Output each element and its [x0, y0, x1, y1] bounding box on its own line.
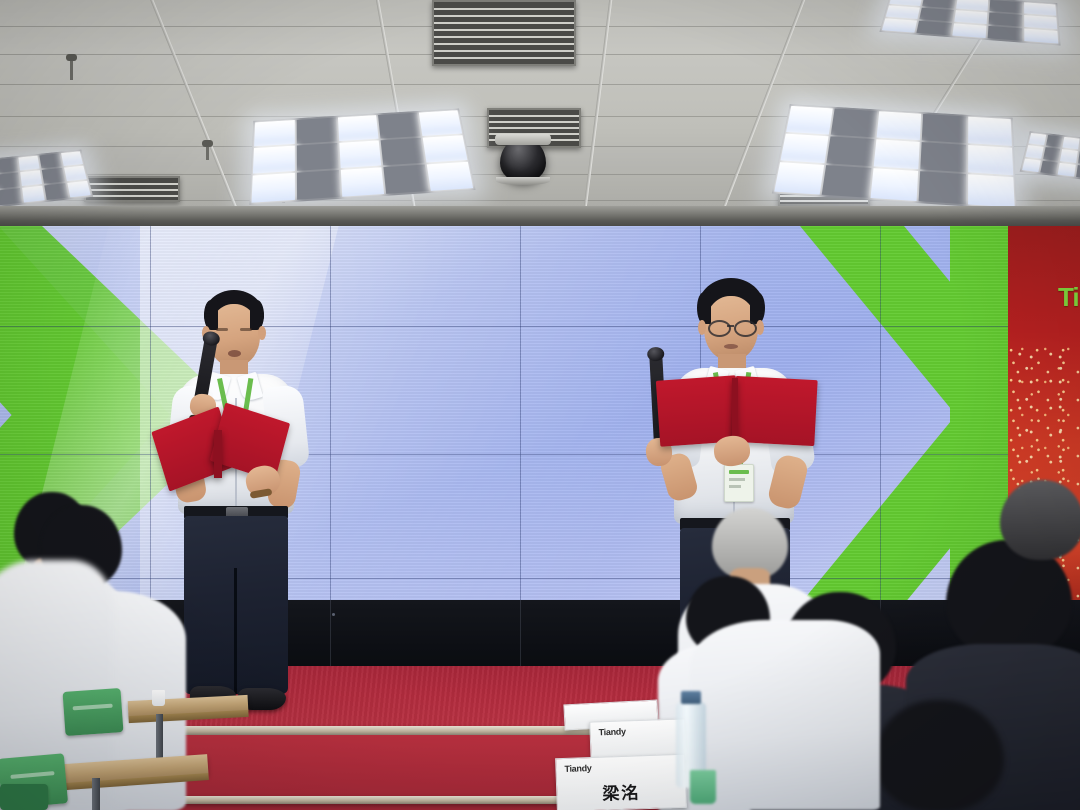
audience-chair	[0, 784, 48, 810]
ear	[698, 320, 706, 335]
head	[874, 700, 1004, 810]
sprinkler-icon	[70, 58, 73, 80]
head	[1000, 480, 1080, 560]
audience-member	[1000, 480, 1080, 610]
air-vent-icon	[432, 0, 576, 66]
ear	[756, 320, 764, 335]
hair-side	[697, 292, 711, 324]
white-cup	[152, 690, 165, 706]
red-folder	[732, 376, 817, 446]
audience-chair	[63, 688, 124, 736]
pant-leg-split	[234, 568, 237, 694]
id-badge	[724, 464, 754, 502]
name-card-brand: Tiandy	[599, 726, 626, 737]
glasses-lens-left	[708, 320, 731, 337]
ceiling-light-panel	[772, 104, 1017, 210]
red-folder-spine	[732, 378, 738, 444]
brand-text-tiandy: Ti	[1058, 282, 1079, 313]
torso	[690, 620, 880, 810]
conference-photo-scene: 新员工代表发言 Ti	[0, 0, 1080, 810]
ceiling-light-panel	[249, 109, 475, 205]
name-card: Tiandy 梁洺	[555, 754, 687, 810]
audience-member	[690, 620, 870, 810]
green-cup	[690, 770, 716, 804]
ear	[258, 326, 266, 340]
table-leg	[92, 778, 100, 810]
red-folder-spine	[214, 430, 222, 478]
sprinkler-icon	[206, 144, 209, 160]
glasses-lens-right	[734, 320, 757, 337]
name-card-brand: Tiandy	[564, 763, 591, 774]
ceiling-beam	[0, 206, 1080, 220]
name-card-name: 梁洺	[557, 777, 686, 806]
ceiling	[0, 0, 1080, 232]
air-vent-icon	[84, 176, 180, 202]
hair-side	[750, 292, 765, 324]
dome-camera-icon	[500, 138, 546, 182]
